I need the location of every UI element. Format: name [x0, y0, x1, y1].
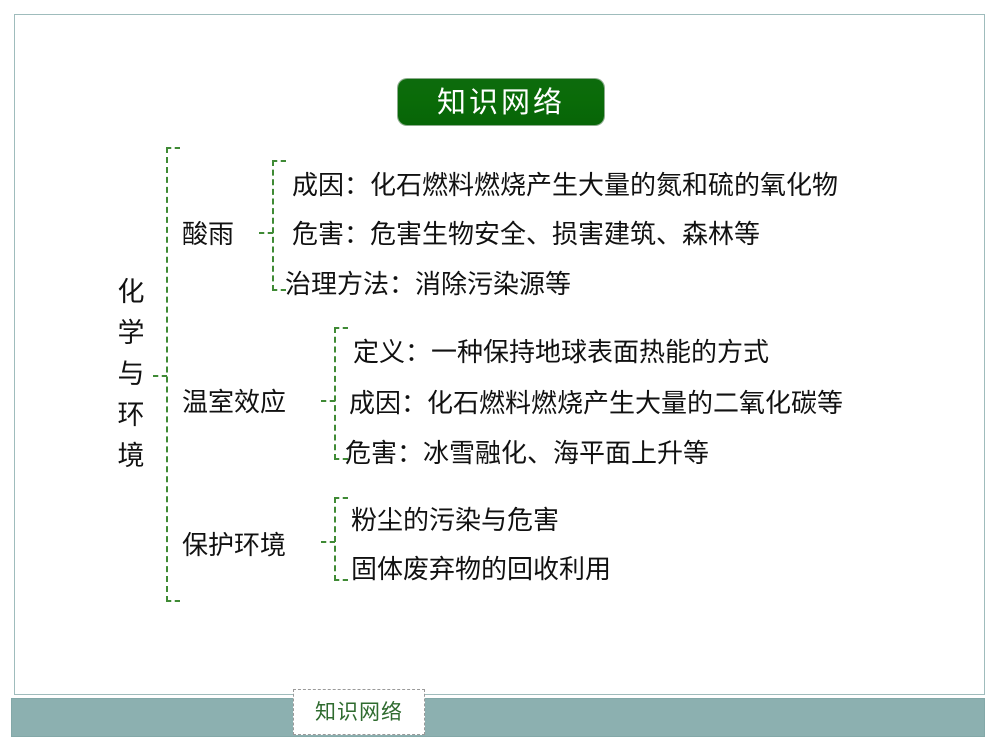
root-char-4: 境	[108, 436, 154, 477]
leaf-acid-rain-0: 成因：化石燃料燃烧产生大量的氮和硫的氧化物	[292, 173, 838, 199]
footer-label-text: 知识网络	[315, 702, 403, 723]
leaf-greenhouse-2: 危害：冰雪融化、海平面上升等	[345, 441, 709, 467]
protect-env-bracket-cap-bottom	[334, 579, 348, 581]
greenhouse-bracket-spine	[334, 327, 336, 460]
footer-bar	[11, 698, 985, 737]
root-char-1: 学	[108, 313, 154, 354]
acid-rain-bracket-tick	[259, 232, 273, 234]
acid-rain-bracket-cap-bottom	[272, 289, 286, 291]
leaf-acid-rain-2: 治理方法：消除污染源等	[285, 272, 571, 298]
branch-label-protect-env: 保护环境	[182, 533, 286, 559]
leaf-acid-rain-1: 危害：危害生物安全、损害建筑、森林等	[292, 222, 760, 248]
root-node-label: 化 学 与 环 境	[108, 272, 154, 477]
root-char-2: 与	[108, 354, 154, 395]
protect-env-bracket-cap-top	[334, 497, 348, 499]
protect-env-bracket-tick	[321, 541, 335, 543]
main-bracket-cap-bottom	[166, 600, 180, 602]
branch-label-greenhouse: 温室效应	[182, 390, 286, 416]
leaf-protect-env-0: 粉尘的污染与危害	[351, 508, 559, 534]
greenhouse-bracket-cap-top	[334, 327, 348, 329]
branch-label-acid-rain: 酸雨	[182, 222, 234, 248]
slide-title-text: 知识网络	[437, 88, 565, 117]
root-char-0: 化	[108, 272, 154, 313]
root-char-3: 环	[108, 395, 154, 436]
acid-rain-bracket-cap-top	[272, 160, 286, 162]
greenhouse-bracket-tick	[321, 400, 335, 402]
protect-env-bracket-spine	[334, 497, 336, 581]
leaf-greenhouse-1: 成因：化石燃料燃烧产生大量的二氧化碳等	[349, 391, 843, 417]
footer-label-box: 知识网络	[293, 689, 425, 735]
slide-canvas: 知识网络 化 学 与 环 境 酸雨 成因：化石燃料燃烧产生大量的氮和硫的氧化物 …	[0, 0, 1000, 750]
leaf-protect-env-1: 固体废弃物的回收利用	[351, 557, 611, 583]
main-bracket-tick	[153, 375, 167, 377]
leaf-greenhouse-0: 定义：一种保持地球表面热能的方式	[353, 340, 769, 366]
slide-title-box: 知识网络	[398, 79, 604, 125]
main-bracket-cap-top	[166, 147, 180, 149]
acid-rain-bracket-spine	[272, 160, 274, 291]
